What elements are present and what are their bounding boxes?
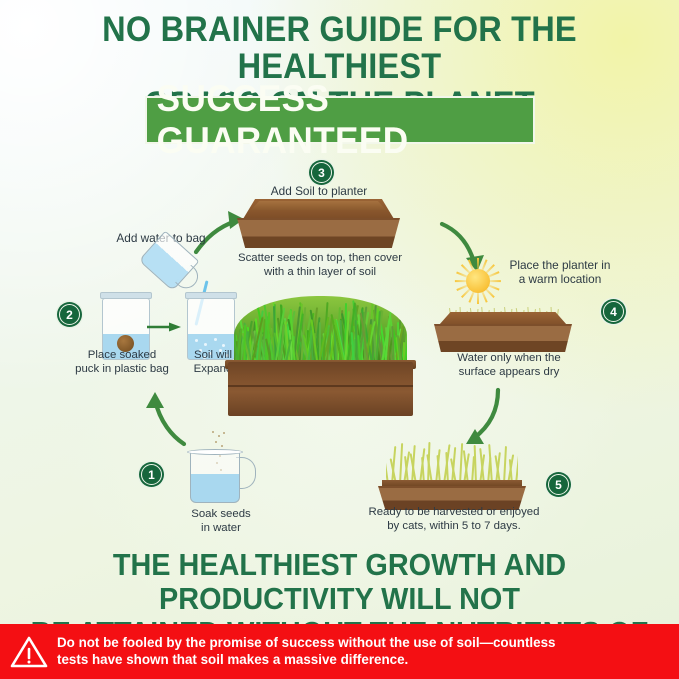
arrow-step1-to-step2 xyxy=(128,386,198,448)
step-badge-5: 5 xyxy=(548,474,569,495)
step-4-caption: Water only when the surface appears dry xyxy=(437,352,581,380)
plastic-bag-icon xyxy=(92,258,242,358)
step-5-caption-line-1: Ready to be harvested or enjoyed xyxy=(352,506,556,520)
warning-text: Do not be fooled by the promise of succe… xyxy=(57,635,556,668)
step-2-caption-line-1: Place soaked xyxy=(62,349,182,363)
step-3-caption: Scatter seeds on top, then cover with a … xyxy=(222,252,418,280)
step-badge-1: 1 xyxy=(141,464,162,485)
step-4-title-line-2: a warm location xyxy=(485,272,635,286)
step-4-caption-line-1: Water only when the xyxy=(437,352,581,366)
success-banner-label: SUCCESS GUARANTEED xyxy=(156,78,523,162)
step-3-caption-line-1: Scatter seeds on top, then cover xyxy=(222,252,418,266)
sun-icon xyxy=(455,258,501,304)
warning-line-1: Do not be fooled by the promise of succe… xyxy=(57,635,556,652)
warning-triangle-icon xyxy=(10,635,48,669)
soil-planter-icon xyxy=(237,199,400,251)
arrow-bag-expand xyxy=(147,322,181,332)
harvest-grass xyxy=(386,440,518,484)
step-4-title-line-1: Place the planter in xyxy=(485,258,635,272)
success-banner: SUCCESS GUARANTEED xyxy=(145,96,535,144)
step-2-caption-left: Place soaked puck in plastic bag xyxy=(62,349,182,377)
step-3-caption-line-2: with a thin layer of soil xyxy=(222,266,418,280)
infographic-poster: NO BRAINER GUIDE FOR THE HEALTHIEST GRAS… xyxy=(0,0,679,679)
step-1-caption: Soak seeds in water xyxy=(160,508,282,536)
step-badge-2: 2 xyxy=(59,304,80,325)
measuring-cup-icon xyxy=(186,447,256,505)
step-3-title: Add Soil to planter xyxy=(239,184,399,198)
harvested-planter-icon xyxy=(378,440,526,506)
step-4-caption-line-2: surface appears dry xyxy=(437,366,581,380)
step-5-caption: Ready to be harvested or enjoyed by cats… xyxy=(352,506,556,534)
step-4-title: Place the planter in a warm location xyxy=(485,258,635,287)
step-1-caption-line-1: Soak seeds xyxy=(160,508,282,522)
step-2-caption-line-2: puck in plastic bag xyxy=(62,363,182,377)
warning-line-2: tests have shown that soil makes a massi… xyxy=(57,652,556,669)
step-5-caption-line-2: by cats, within 5 to 7 days. xyxy=(352,520,556,534)
step-badge-4: 4 xyxy=(603,301,624,322)
step-badge-3: 3 xyxy=(311,162,332,183)
hero-grass-planter xyxy=(228,296,413,416)
warning-bar: Do not be fooled by the promise of succe… xyxy=(0,624,679,679)
footer-line-1: THE HEALTHIEST GROWTH AND PRODUCTIVITY W… xyxy=(24,548,655,616)
step-1-caption-line-2: in water xyxy=(160,522,282,536)
headline-line-1: NO BRAINER GUIDE FOR THE HEALTHIEST xyxy=(24,11,655,86)
hero-grass xyxy=(234,296,407,368)
sprouting-planter-icon xyxy=(434,306,572,354)
